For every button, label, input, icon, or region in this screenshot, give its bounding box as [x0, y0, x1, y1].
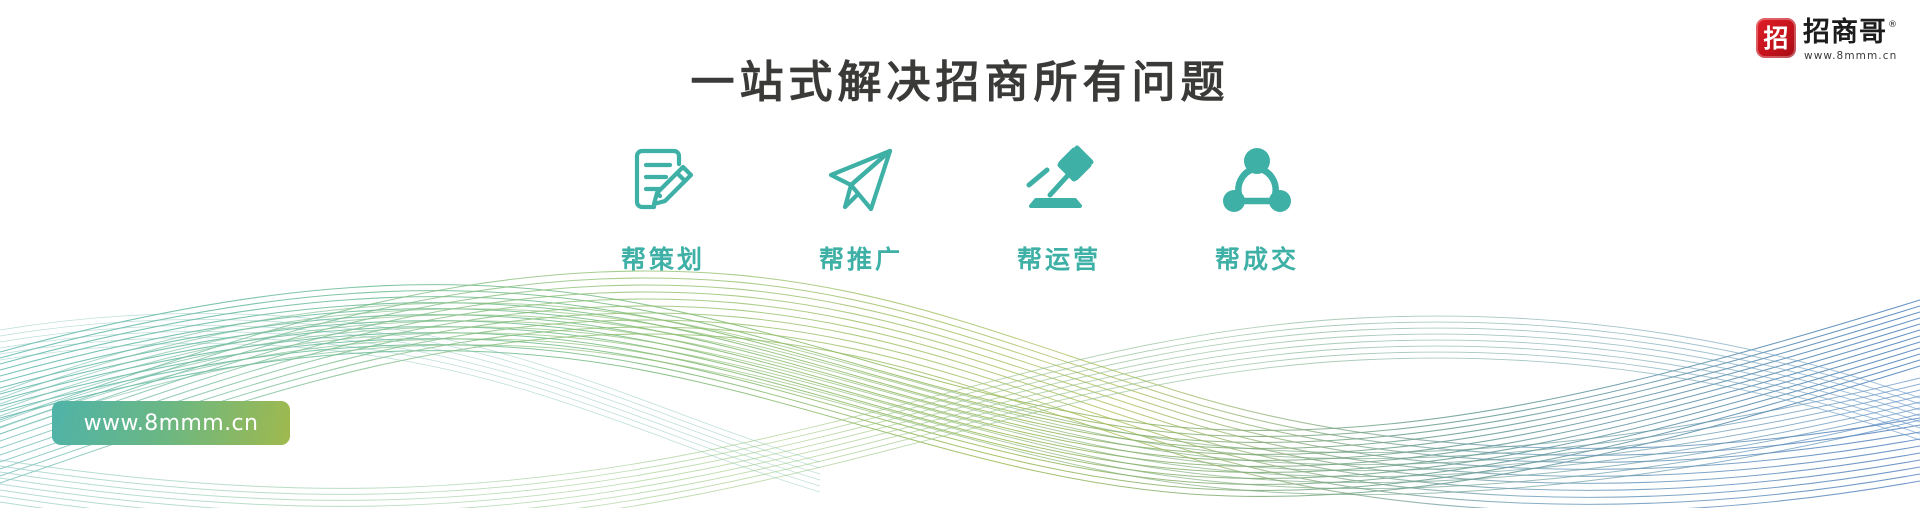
logo-text-block: 招商哥 ® www.8mmm.cn — [1803, 18, 1898, 62]
people-network-icon — [1215, 136, 1299, 222]
brand-logo[interactable]: 招 招商哥 ® www.8mmm.cn — [1756, 18, 1898, 62]
paper-plane-icon — [819, 136, 903, 222]
feature-item-operations[interactable]: 帮运营 — [984, 136, 1134, 276]
page-title: 一站式解决招商所有问题 — [0, 57, 1920, 110]
brand-name: 招商哥 — [1803, 19, 1887, 47]
registered-trademark-icon: ® — [1888, 21, 1898, 30]
logo-mark-char: 招 — [1763, 26, 1788, 51]
feature-label: 帮成交 — [1215, 240, 1299, 276]
feature-item-closing[interactable]: 帮成交 — [1182, 136, 1332, 276]
website-url-badge[interactable]: www.8mmm.cn — [52, 401, 290, 445]
feature-item-planning[interactable]: 帮策划 — [588, 136, 738, 276]
feature-list: 帮策划 帮推广 — [588, 136, 1332, 276]
brand-name-row: 招商哥 ® — [1803, 19, 1898, 47]
website-url-text: www.8mmm.cn — [84, 411, 259, 436]
feature-label: 帮推广 — [819, 240, 903, 276]
gavel-icon — [1017, 136, 1101, 222]
feature-label: 帮运营 — [1017, 240, 1101, 276]
promo-banner: 招 招商哥 ® www.8mmm.cn 一站式解决招商所有问题 — [0, 0, 1920, 508]
logo-mark-icon: 招 — [1756, 18, 1796, 58]
feature-item-promotion[interactable]: 帮推广 — [786, 136, 936, 276]
feature-label: 帮策划 — [621, 240, 705, 276]
document-pencil-icon — [621, 136, 705, 222]
